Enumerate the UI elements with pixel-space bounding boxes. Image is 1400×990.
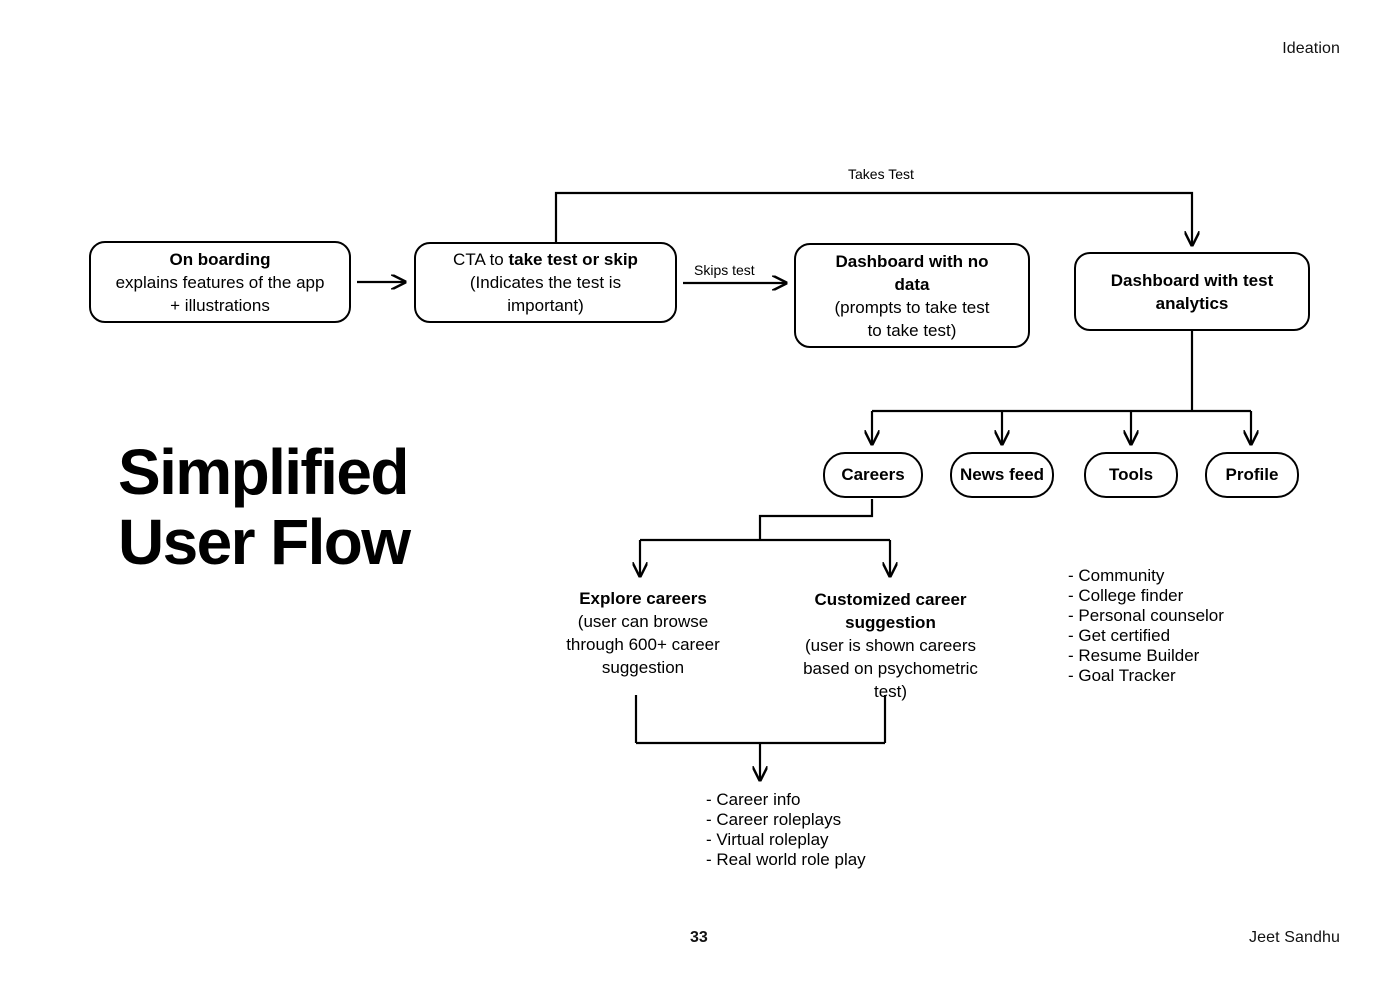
branch-explore-line-3: through 600+ career [540, 633, 746, 656]
page-title: Simplified User Flow [118, 437, 538, 577]
list-item: - College finder [1068, 586, 1224, 606]
tab-profile-label: Profile [1226, 465, 1279, 485]
tools-feature-list: - Community - College finder - Personal … [1068, 566, 1224, 686]
branch-explore-line-2: (user can browse [540, 610, 746, 633]
edge-careers-drop [760, 499, 872, 540]
node-cta-line-3: important) [453, 294, 638, 317]
page-title-line-2: User Flow [118, 507, 538, 577]
list-item: - Community [1068, 566, 1224, 586]
list-item: - Resume Builder [1068, 646, 1224, 666]
node-on-boarding-line-3: + illustrations [116, 294, 325, 317]
node-dashboard-no-data[interactable]: Dashboard with no data (prompts to take … [794, 243, 1030, 348]
branch-explore-careers: Explore careers (user can browse through… [540, 587, 746, 679]
edge-label-skips-test: Skips test [694, 261, 755, 279]
node-cta-line-1-prefix: CTA to [453, 250, 508, 269]
node-cta-line-1: CTA to take test or skip [453, 248, 638, 271]
page-number: 33 [690, 929, 708, 947]
list-item: - Goal Tracker [1068, 666, 1224, 686]
section-label: Ideation [1282, 39, 1340, 59]
node-dashboard-no-data-line-3: (prompts to take test [835, 296, 990, 319]
career-outputs-list: - Career info - Career roleplays - Virtu… [706, 790, 866, 870]
branch-customized-heading-2: suggestion [783, 611, 998, 634]
edge-label-takes-test: Takes Test [848, 165, 914, 183]
node-cta-line-1-bold: take test or skip [508, 250, 637, 269]
list-item: - Personal counselor [1068, 606, 1224, 626]
node-dashboard-no-data-line-4: to take test) [835, 319, 990, 342]
node-cta-take-test[interactable]: CTA to take test or skip (Indicates the … [414, 242, 677, 323]
edge-cta-to-analytics [556, 193, 1192, 245]
node-dashboard-test-analytics[interactable]: Dashboard with test analytics [1074, 252, 1310, 331]
list-item: - Career roleplays [706, 810, 866, 830]
tab-profile[interactable]: Profile [1205, 452, 1299, 498]
node-dashboard-analytics-heading-2: analytics [1111, 292, 1273, 315]
node-dashboard-no-data-heading-1: Dashboard with no [835, 250, 990, 273]
tab-news-feed-label: News feed [960, 465, 1044, 485]
list-item: - Virtual roleplay [706, 830, 866, 850]
tab-tools[interactable]: Tools [1084, 452, 1178, 498]
tab-news-feed[interactable]: News feed [950, 452, 1054, 498]
node-cta-line-2: (Indicates the test is [453, 271, 638, 294]
author-name: Jeet Sandhu [1249, 929, 1340, 947]
branch-customized-line-4: based on psychometric [783, 657, 998, 680]
node-dashboard-no-data-heading-2: data [835, 273, 990, 296]
node-on-boarding-heading: On boarding [116, 248, 325, 271]
branch-customized-line-5: test) [783, 680, 998, 703]
branch-customized-career-suggestion: Customized career suggestion (user is sh… [783, 588, 998, 703]
branch-explore-heading: Explore careers [540, 587, 746, 610]
tab-tools-label: Tools [1109, 465, 1153, 485]
tab-careers[interactable]: Careers [823, 452, 923, 498]
node-on-boarding-line-2: explains features of the app [116, 271, 325, 294]
list-item: - Real world role play [706, 850, 866, 870]
branch-customized-heading-1: Customized career [783, 588, 998, 611]
list-item: - Career info [706, 790, 866, 810]
list-item: - Get certified [1068, 626, 1224, 646]
page-title-line-1: Simplified [118, 437, 538, 507]
branch-customized-line-3: (user is shown careers [783, 634, 998, 657]
node-dashboard-analytics-heading-1: Dashboard with test [1111, 269, 1273, 292]
tab-careers-label: Careers [841, 465, 904, 485]
slide-canvas: Ideation Simplified User Flow [0, 0, 1400, 990]
node-on-boarding[interactable]: On boarding explains features of the app… [89, 241, 351, 323]
branch-explore-line-4: suggestion [540, 656, 746, 679]
